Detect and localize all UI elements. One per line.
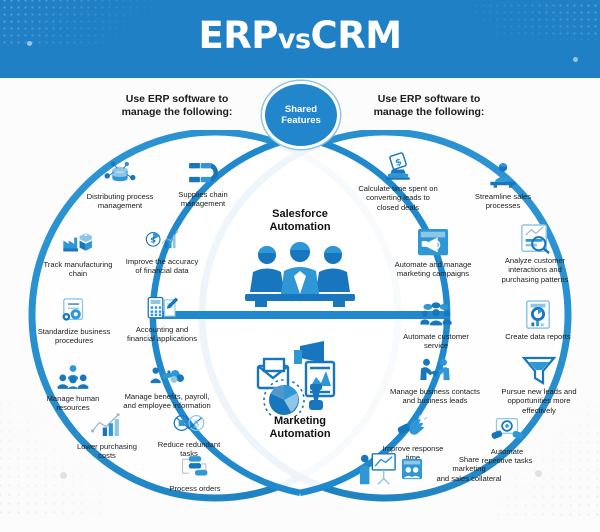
magnet-chain-icon <box>186 158 220 188</box>
item-label: Improve the accuracy of financial data <box>114 257 210 276</box>
header-accent-dot-right <box>573 57 578 62</box>
item-standardize-business-procedures[interactable]: Standardize business procedures <box>28 295 120 346</box>
checklist-gear-icon <box>57 295 91 325</box>
database-network-icon <box>103 160 137 190</box>
infographic-page: ERPvsCRM Use ERP software to manage the … <box>0 0 600 532</box>
svg-text:$: $ <box>150 235 156 245</box>
funnel-icon <box>522 355 556 385</box>
center-bottom-label: Marketing Automation <box>230 415 370 441</box>
svg-text:₿: ₿ <box>194 419 200 429</box>
item-automate-manage-marketing-campaigns[interactable]: Automate and manage marketing campaigns <box>384 228 482 279</box>
item-improve-accuracy-financial-data[interactable]: $ Improve the accuracy of financial data <box>114 225 210 276</box>
item-lower-purchasing-costs[interactable]: Lower purchasing costs <box>64 410 150 461</box>
shared-features-bubble[interactable]: Shared Features <box>265 84 337 146</box>
item-streamline-sales-processes[interactable]: Streamline sales processes <box>462 160 544 211</box>
item-pursue-new-leads[interactable]: Pursue new leads and opportunities more … <box>490 355 588 415</box>
item-label: Automate and manage marketing campaigns <box>384 260 482 279</box>
report-chart-icon <box>521 300 555 330</box>
three-sales-people-icon <box>243 242 357 308</box>
item-manage-human-resources[interactable]: Manage human resources <box>30 362 116 413</box>
infinity-cycle-icon: ₿ <box>172 408 206 438</box>
marketing-mail-megaphone-icon <box>250 340 350 416</box>
item-label: Streamline sales processes <box>462 192 544 211</box>
page-header: ERPvsCRM <box>0 0 600 78</box>
person-desk-icon <box>486 160 520 190</box>
stamp-dollar-icon: $ <box>381 152 415 182</box>
item-manage-benefits-payroll[interactable]: Manage benefits, payroll, and employee i… <box>112 360 222 411</box>
people-chat-icon <box>419 300 453 330</box>
center-top-label: Salesforce Automation <box>230 208 370 234</box>
left-heading: Use ERP software to manage the following… <box>93 93 261 119</box>
calculator-pen-icon <box>145 293 179 323</box>
gear-hand-icon <box>490 415 524 445</box>
item-label: Lower purchasing costs <box>64 442 150 461</box>
factory-box-icon <box>61 228 95 258</box>
item-label: Create data reports <box>490 332 586 341</box>
workflow-nodes-icon <box>178 452 212 482</box>
item-analyze-customer-interactions[interactable]: Analyze customer interactions and purcha… <box>485 224 585 284</box>
item-accounting-financial-applications[interactable]: Accounting and financial applications <box>112 293 212 344</box>
item-supplies-chain-management[interactable]: Supplies chain management <box>163 158 243 209</box>
item-reduce-redundant-tasks[interactable]: ₿ Reduce redundant tasks <box>146 408 232 459</box>
item-label: Manage business contacts and business le… <box>378 387 492 406</box>
item-label: Analyze customer interactions and purcha… <box>485 256 585 284</box>
item-distributing-process-management[interactable]: Distributing process management <box>75 160 165 211</box>
item-calculate-time-converting-leads[interactable]: $ Calculate time spent on converting lea… <box>348 152 448 212</box>
item-automate-customer-service[interactable]: Automate customer service <box>390 300 482 351</box>
page-title: ERPvsCRM <box>0 14 600 57</box>
item-label: Share marketing and sales collateral <box>427 455 511 483</box>
item-label: Process orders <box>152 484 238 493</box>
person-benefits-icon <box>150 360 184 390</box>
handshake-icon <box>418 355 452 385</box>
title-vs: vs <box>278 24 311 55</box>
item-label: Accounting and financial applications <box>112 325 212 344</box>
dollar-piechart-bars-icon: $ <box>145 225 179 255</box>
megaphone-screen-icon <box>416 228 450 258</box>
item-create-data-reports[interactable]: Create data reports <box>490 300 586 341</box>
document-magnifier-icon <box>518 224 552 254</box>
title-erp: ERP <box>198 14 277 57</box>
item-label: Automate customer service <box>390 332 482 351</box>
item-share-marketing-sales-collateral[interactable]: Share marketing and sales collateral <box>345 452 525 486</box>
item-track-manufacturing-chain[interactable]: Track manufacturing chain <box>32 228 124 279</box>
item-manage-business-contacts[interactable]: Manage business contacts and business le… <box>378 355 492 406</box>
people-group-icon <box>56 362 90 392</box>
item-label: Distributing process management <box>75 192 165 211</box>
item-label: Standardize business procedures <box>28 327 120 346</box>
item-process-orders[interactable]: Process orders <box>152 452 238 493</box>
title-crm: CRM <box>311 14 402 57</box>
item-label: Supplies chain management <box>163 190 243 209</box>
right-heading: Use ERP software to manage the following… <box>345 93 513 119</box>
share-tile-icon <box>401 458 423 480</box>
item-label: Pursue new leads and opportunities more … <box>490 387 588 415</box>
hand-click-icon <box>396 412 430 442</box>
presentation-board-icon <box>359 452 397 486</box>
bar-chart-arrow-icon <box>90 410 124 440</box>
shared-features-label: Shared Features <box>281 104 321 126</box>
item-label: Track manufacturing chain <box>32 260 124 279</box>
